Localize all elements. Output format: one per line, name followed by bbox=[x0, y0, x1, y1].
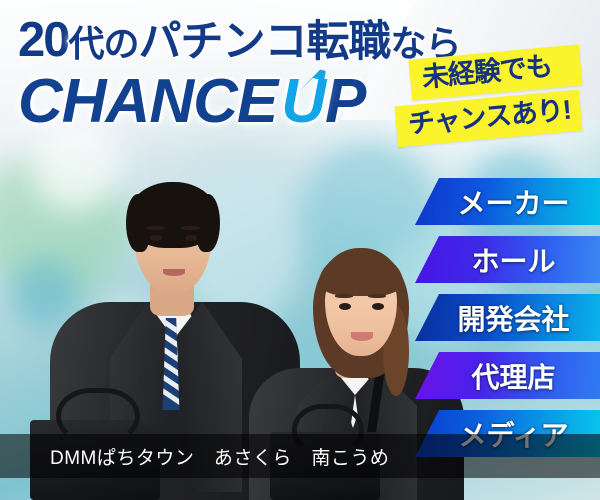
headline-pachinko: パチンコ bbox=[139, 18, 307, 66]
category-label-hall: ホール bbox=[459, 240, 555, 280]
advertisement-banner: 20代のパチンコ転職なら CHANCEUP 未経験でも チャンスあり! メーカー… bbox=[0, 0, 600, 500]
up-arrow-icon bbox=[298, 68, 326, 96]
category-button-developer[interactable]: 開発会社 bbox=[415, 294, 600, 341]
category-button-agency[interactable]: 代理店 bbox=[415, 352, 600, 399]
category-label-agency: 代理店 bbox=[459, 356, 555, 396]
promo-badge-group: 未経験でも チャンスあり! bbox=[396, 52, 581, 139]
headline-age-number: 20 bbox=[18, 13, 69, 67]
logotype-up-p: P bbox=[325, 67, 365, 136]
credit-text: DMMぱちタウン あさくら 南こうめ bbox=[0, 443, 389, 470]
category-button-hall[interactable]: ホール bbox=[415, 236, 600, 283]
headline-age-suffix: 代の bbox=[69, 23, 139, 64]
credit-band: DMMぱちタウン あさくら 南こうめ bbox=[0, 434, 600, 478]
logotype-up-u: U bbox=[277, 67, 325, 136]
category-label-developer: 開発会社 bbox=[445, 298, 569, 338]
category-button-maker[interactable]: メーカー bbox=[415, 178, 600, 225]
headline-tenshoku: 転職 bbox=[307, 18, 391, 66]
category-button-stack: メーカー ホール 開発会社 代理店 メディア bbox=[415, 178, 600, 468]
category-label-maker: メーカー bbox=[445, 182, 569, 222]
logotype-chance: CHANCE bbox=[18, 67, 277, 136]
